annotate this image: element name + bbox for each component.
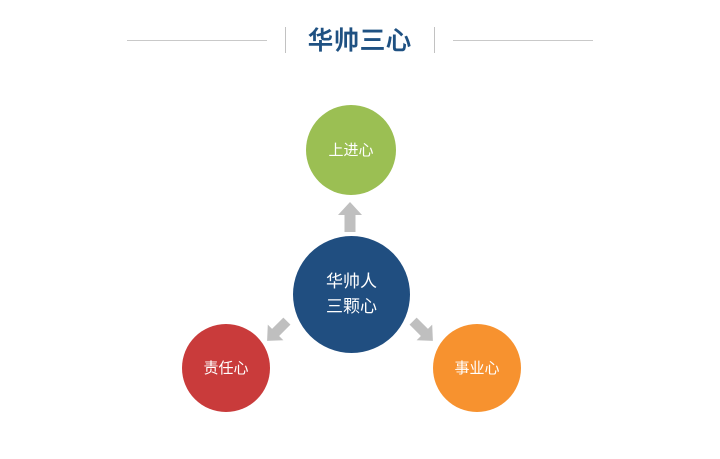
node-bottom-left[interactable]: 责任心 <box>182 324 270 412</box>
node-top[interactable]: 上进心 <box>306 105 396 195</box>
center-node-label-line1: 华帅人 <box>326 270 377 295</box>
arrow-down-right-icon <box>408 316 438 346</box>
arrow-down-left-icon <box>262 316 292 346</box>
diagram-canvas: 上进心 华帅人 三颗心 责任心 事业心 <box>0 0 720 459</box>
node-bottom-left-label: 责任心 <box>203 358 248 378</box>
node-bottom-right[interactable]: 事业心 <box>433 324 521 412</box>
arrow-up-icon <box>336 202 364 232</box>
node-bottom-right-label: 事业心 <box>454 358 499 378</box>
center-node[interactable]: 华帅人 三颗心 <box>293 236 410 353</box>
center-node-label-line2: 三颗心 <box>326 295 377 320</box>
node-top-label: 上进心 <box>328 140 373 160</box>
